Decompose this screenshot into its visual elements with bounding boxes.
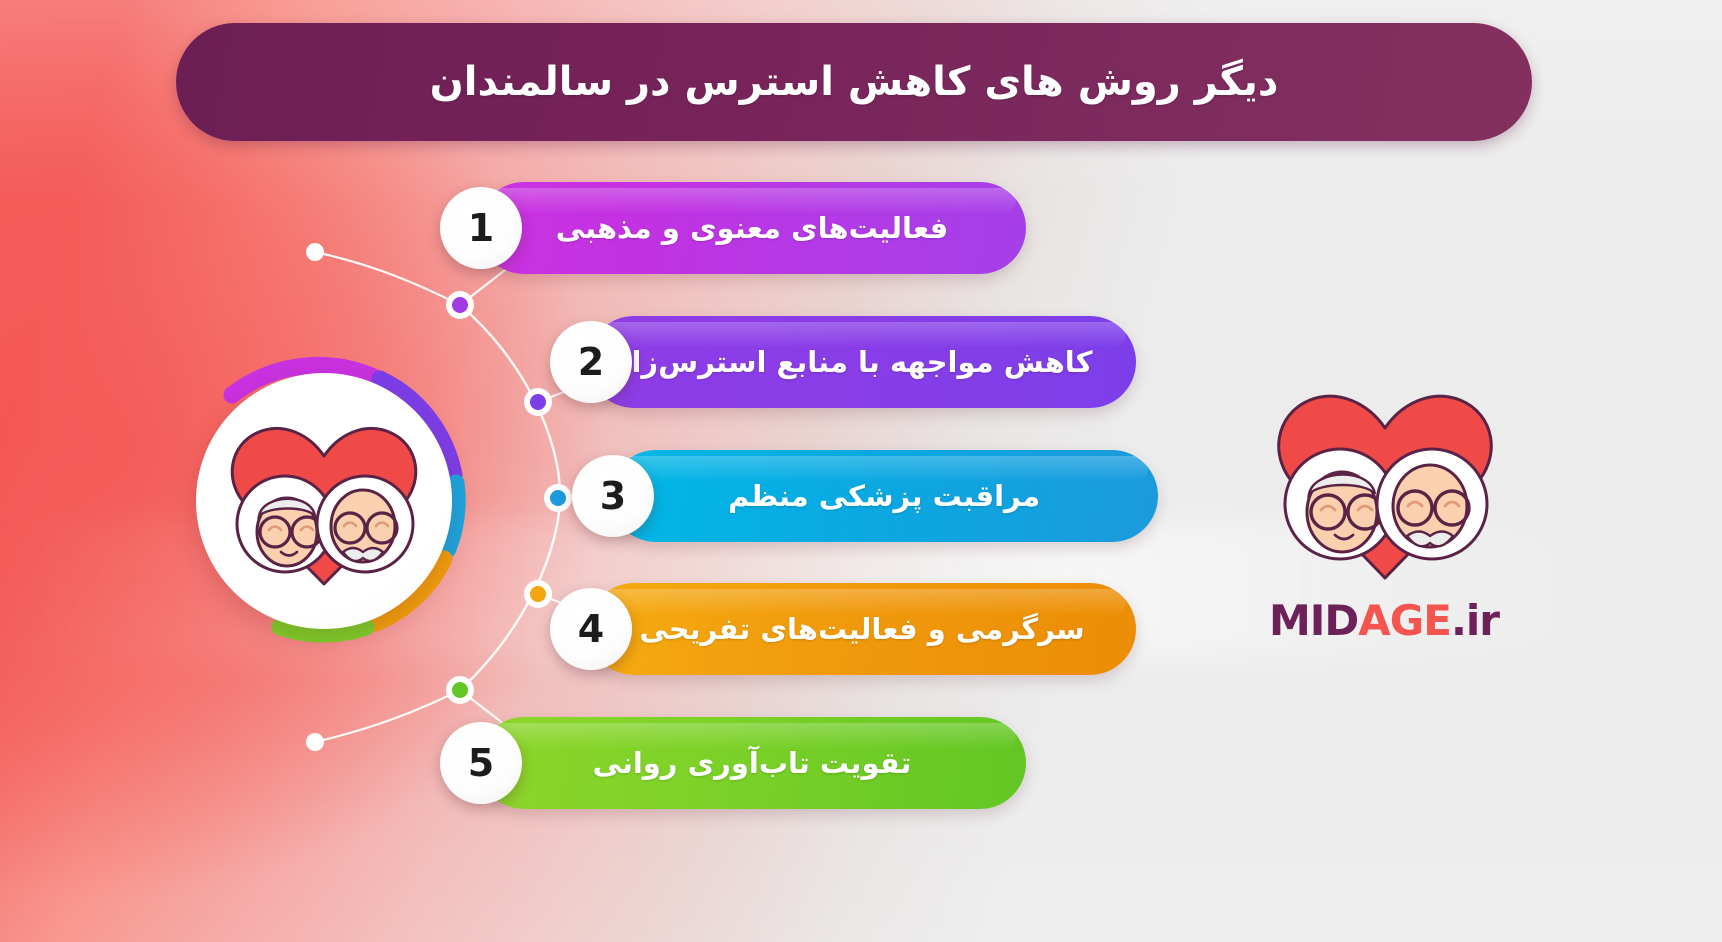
- item-badge-5[interactable]: 5: [440, 722, 522, 804]
- item-label-5: تقویت تاب‌آوری روانی: [567, 746, 938, 780]
- page-title: دیگر روش های کاهش استرس در سالمندان: [430, 58, 1279, 106]
- logo-word-tld: .ir: [1451, 596, 1499, 645]
- logo-illustration: [1262, 372, 1508, 594]
- logo-elderly-couple-heart-icon: [1262, 372, 1508, 594]
- item-number-5: 5: [468, 744, 494, 782]
- item-badge-4[interactable]: 4: [550, 588, 632, 670]
- item-bar-5[interactable]: تقویت تاب‌آوری روانی: [478, 717, 1026, 809]
- item-bar-1[interactable]: فعالیت‌های معنوی و مذهبی: [478, 182, 1026, 274]
- central-emblem: [178, 335, 470, 665]
- item-number-2: 2: [578, 343, 604, 381]
- logo-word-age: AGE: [1358, 596, 1451, 645]
- item-badge-3[interactable]: 3: [572, 455, 654, 537]
- list-item[interactable]: سرگرمی و فعالیت‌های تفریحی 4: [588, 583, 1136, 675]
- elderly-couple-heart-icon: [219, 406, 429, 596]
- emblem-illustration: [196, 373, 452, 629]
- list-item[interactable]: فعالیت‌های معنوی و مذهبی 1: [478, 182, 1026, 274]
- item-bar-2[interactable]: کاهش مواجهه با منابع استرس‌زا: [588, 316, 1136, 408]
- item-number-3: 3: [600, 477, 626, 515]
- list-item[interactable]: تقویت تاب‌آوری روانی 5: [478, 717, 1026, 809]
- item-bar-3[interactable]: مراقبت پزشکی منظم: [610, 450, 1158, 542]
- item-number-1: 1: [468, 209, 494, 247]
- page-title-bar: دیگر روش های کاهش استرس در سالمندان: [176, 23, 1532, 141]
- logo-word-mid: MID: [1269, 596, 1358, 645]
- list-item[interactable]: کاهش مواجهه با منابع استرس‌زا 2: [588, 316, 1136, 408]
- infographic-canvas: دیگر روش های کاهش استرس در سالمندان: [0, 0, 1722, 942]
- logo-wordmark: MIDAGE.ir: [1254, 600, 1514, 642]
- item-label-4: سرگرمی و فعالیت‌های تفریحی: [613, 612, 1110, 646]
- item-bar-4[interactable]: سرگرمی و فعالیت‌های تفریحی: [588, 583, 1136, 675]
- item-number-4: 4: [578, 610, 604, 648]
- item-badge-2[interactable]: 2: [550, 321, 632, 403]
- midage-logo[interactable]: MIDAGE.ir: [1254, 372, 1514, 672]
- item-badge-1[interactable]: 1: [440, 187, 522, 269]
- item-label-1: فعالیت‌های معنوی و مذهبی: [530, 211, 974, 245]
- list-item[interactable]: مراقبت پزشکی منظم 3: [610, 450, 1158, 542]
- item-label-3: مراقبت پزشکی منظم: [702, 479, 1066, 513]
- item-label-2: کاهش مواجهه با منابع استرس‌زا: [605, 345, 1118, 379]
